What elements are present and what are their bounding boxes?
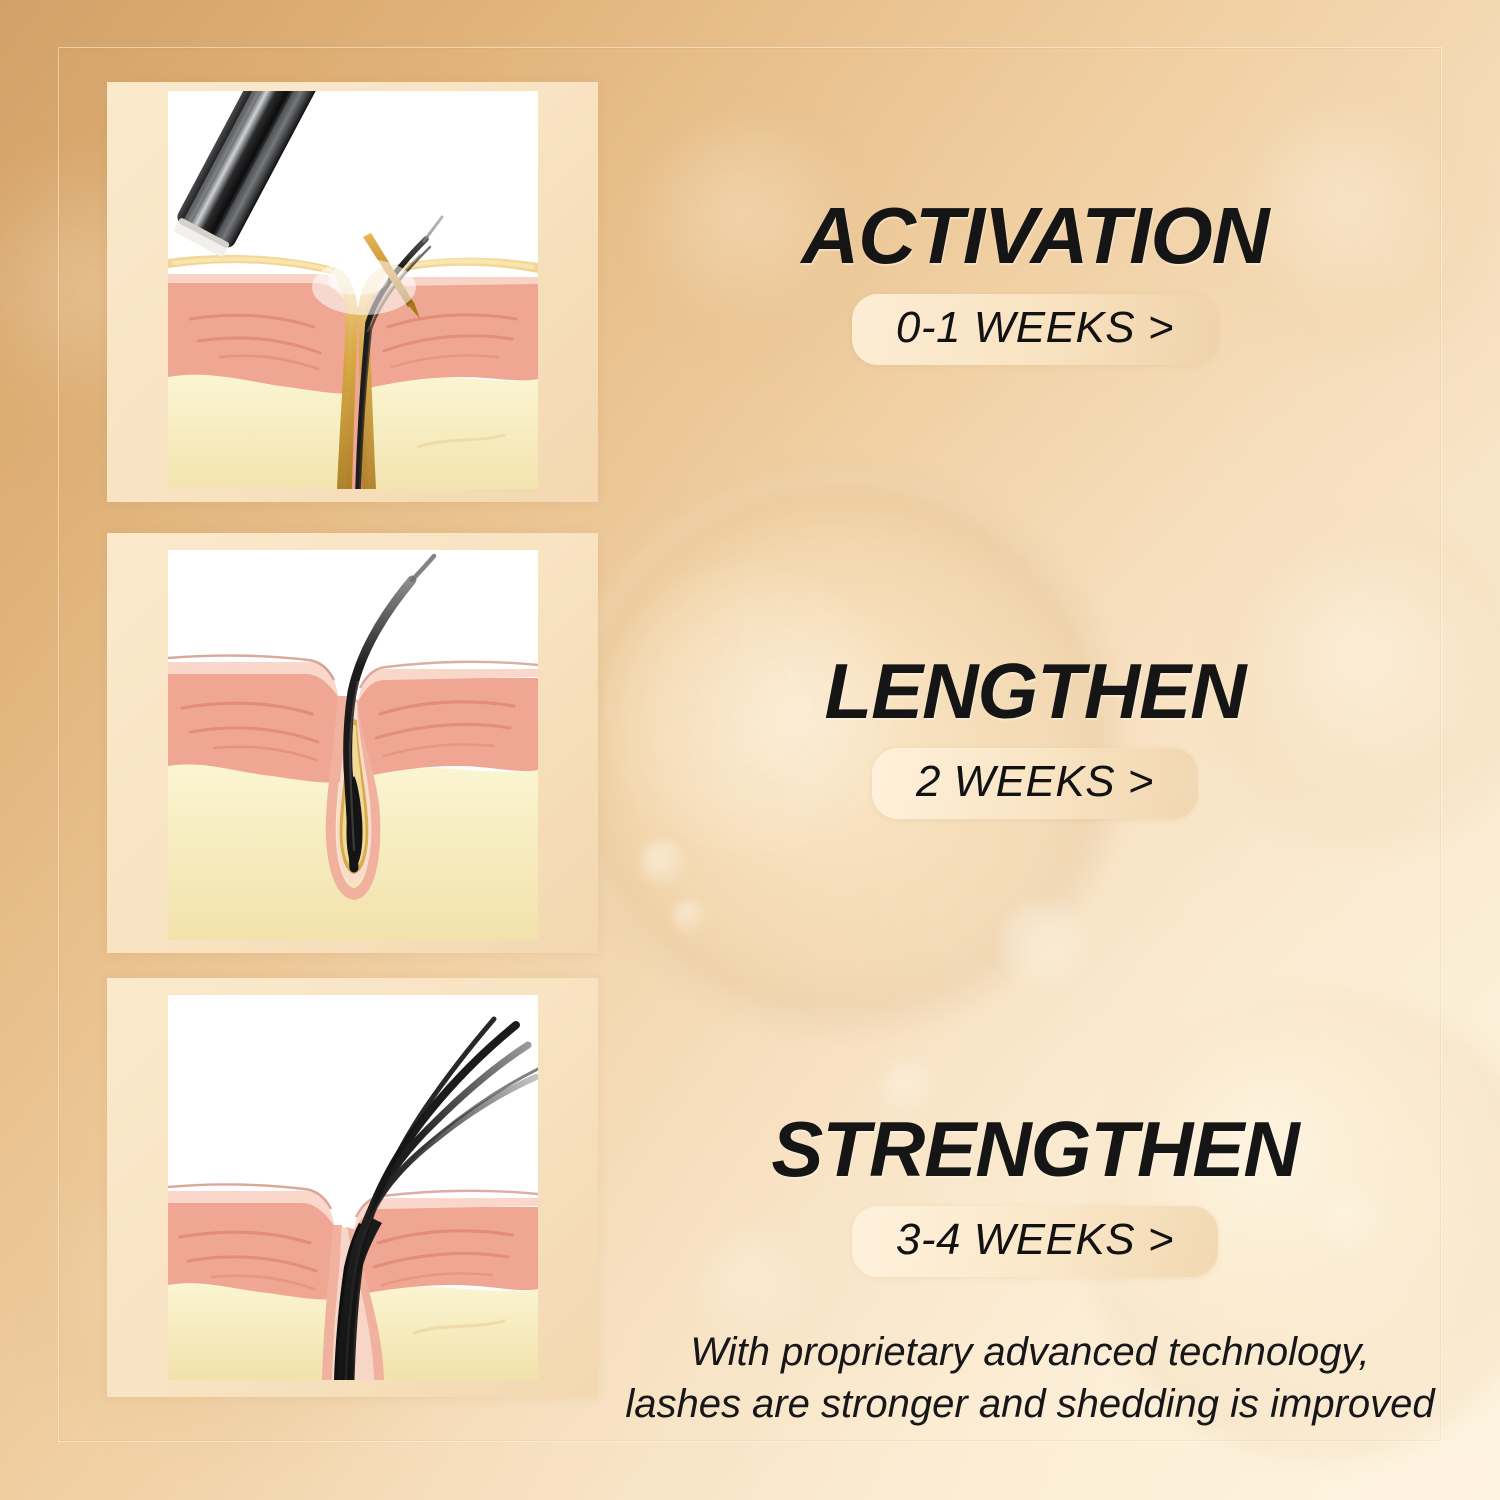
step-title-lengthen: LENGTHEN [630,652,1440,730]
bokeh-sparkle-7-icon [672,900,706,934]
bokeh-sparkle-6-icon [640,840,686,886]
strengthen-artwork [168,995,538,1380]
serum-applicator-follicle-diagram [168,91,538,489]
step-badge-strengthen[interactable]: 3-4 WEEKS > [852,1206,1218,1277]
footer-caption-line-2: lashes are stronger and shedding is impr… [600,1378,1460,1430]
illustration-panel-strengthen [107,978,598,1397]
step-activation: ACTIVATION 0-1 WEEKS > [630,196,1440,365]
step-badge-label-lengthen: 2 WEEKS > [916,757,1154,806]
activation-artwork [168,91,538,489]
step-title-strengthen: STRENGTHEN [630,1110,1440,1188]
multiple-lashes-follicle-diagram [168,995,538,1380]
illustration-panel-activation [107,82,598,502]
illustration-panel-lengthen [107,533,598,953]
footer-caption-line-1: With proprietary advanced technology, [600,1326,1460,1378]
step-badge-activation[interactable]: 0-1 WEEKS > [852,294,1218,365]
infographic-canvas: ACTIVATION 0-1 WEEKS > LENGTHEN 2 WEEKS … [0,0,1500,1500]
step-title-activation: ACTIVATION [630,196,1440,276]
single-lash-follicle-diagram [168,550,538,940]
step-badge-lengthen[interactable]: 2 WEEKS > [872,748,1198,819]
step-strengthen: STRENGTHEN 3-4 WEEKS > [630,1110,1440,1277]
footer-caption: With proprietary advanced technology, la… [600,1326,1460,1430]
step-badge-label-strengthen: 3-4 WEEKS > [896,1215,1174,1264]
lengthen-artwork [168,550,538,940]
step-lengthen: LENGTHEN 2 WEEKS > [630,652,1440,819]
bokeh-sparkle-1-icon [1000,900,1090,990]
step-badge-label-activation: 0-1 WEEKS > [896,303,1174,352]
